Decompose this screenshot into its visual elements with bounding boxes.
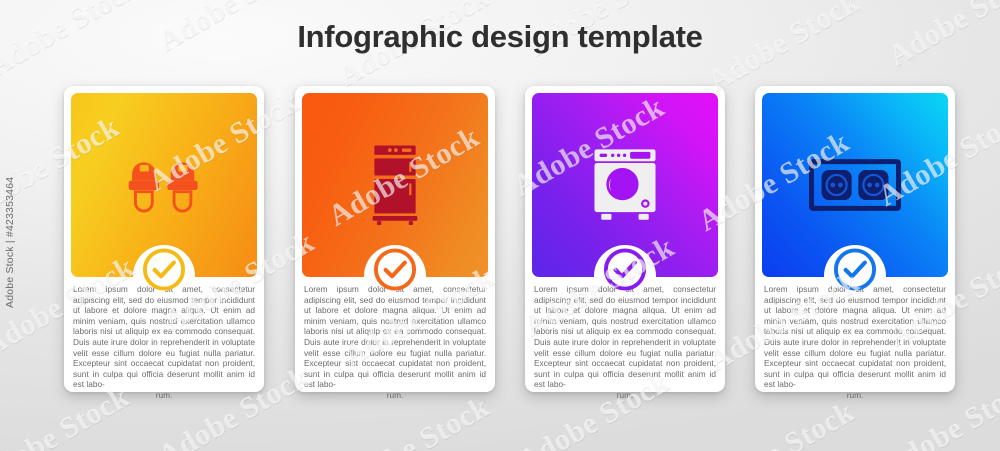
check-badge: [372, 246, 419, 293]
infographic-canvas: Adobe Stock Adobe Stock Adobe Stock Adob…: [0, 0, 1000, 451]
body-paragraph: Lorem ipsum dolor sit amet, consectetur …: [534, 284, 716, 389]
card-electrical-socket[interactable]: Lorem ipsum dolor sit amet, consectetur …: [755, 86, 955, 392]
check-badge: [602, 246, 649, 293]
card-washing-machine[interactable]: Lorem ipsum dolor sit amet, consectetur …: [525, 86, 725, 392]
body-paragraph: Lorem ipsum dolor sit amet, consectetur …: [764, 284, 946, 389]
card-body-text: Lorem ipsum dolor sit amet, consectetur …: [534, 284, 716, 401]
card-list: Lorem ipsum dolor sit amet, consectetur …: [0, 86, 1000, 406]
stock-credit-label: Adobe Stock | #423353464: [4, 177, 16, 308]
body-paragraph: Lorem ipsum dolor sit amet, consectetur …: [73, 284, 255, 389]
card-body-text: Lorem ipsum dolor sit amet, consectetur …: [764, 284, 946, 401]
body-paragraph-tail: rum.: [764, 390, 946, 401]
card-body-text: Lorem ipsum dolor sit amet, consectetur …: [73, 284, 255, 401]
page-title: Infographic design template: [0, 19, 1000, 55]
card-body-text: Lorem ipsum dolor sit amet, consectetur …: [304, 284, 486, 401]
check-badge: [141, 246, 188, 293]
card-slippers[interactable]: Lorem ipsum dolor sit amet, consectetur …: [64, 86, 264, 392]
body-paragraph-tail: rum.: [73, 390, 255, 401]
card-refrigerator[interactable]: Lorem ipsum dolor sit amet, consectetur …: [295, 86, 495, 392]
body-paragraph: Lorem ipsum dolor sit amet, consectetur …: [304, 284, 486, 389]
check-badge: [832, 246, 879, 293]
body-paragraph-tail: rum.: [304, 390, 486, 401]
body-paragraph-tail: rum.: [534, 390, 716, 401]
